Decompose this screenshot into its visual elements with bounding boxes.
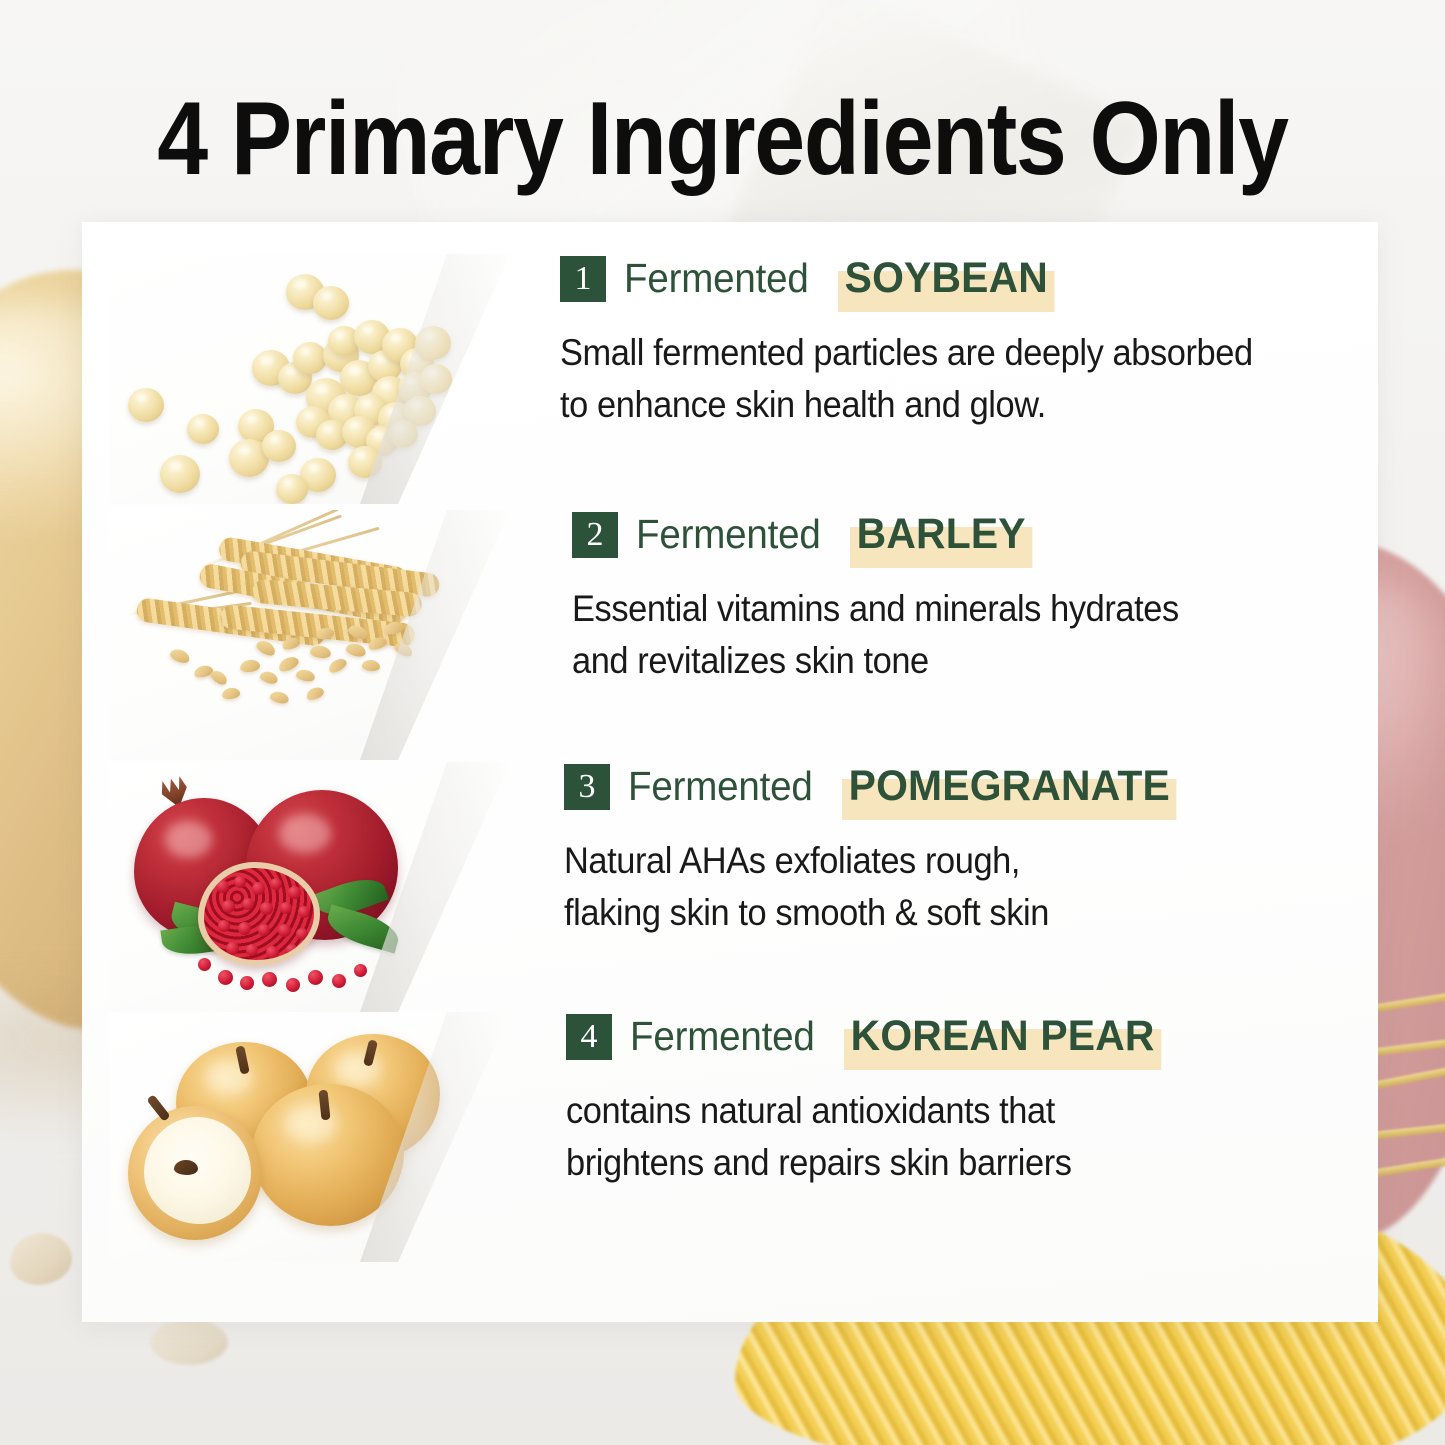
- ingredient-text-column: 1 Fermented SOYBEAN Small fermented part…: [560, 254, 1360, 504]
- ingredient-row: 1 Fermented SOYBEAN Small fermented part…: [82, 254, 1378, 504]
- ingredient-prefix: Fermented: [628, 763, 813, 810]
- description-line-2: flaking skin to smooth & soft skin: [564, 887, 1308, 939]
- ingredient-text-column: 2 Fermented BARLEY Essential vitamins an…: [572, 510, 1372, 760]
- barley-photo-canvas: [110, 510, 510, 760]
- ingredient-text-column: 4 Fermented KOREAN PEAR contains natural…: [566, 1012, 1366, 1262]
- soybeans-photo-canvas: [110, 254, 510, 504]
- ingredient-row: 3 Fermented POMEGRANATE Natural AHAs exf…: [82, 762, 1378, 1012]
- ingredient-prefix: Fermented: [636, 511, 821, 558]
- ingredient-name-text: KOREAN PEAR: [851, 1012, 1155, 1060]
- ingredient-heading: 4 Fermented KOREAN PEAR: [566, 1012, 1366, 1061]
- barley-stalks-photo: [110, 510, 510, 760]
- ingredient-name-text: BARLEY: [857, 510, 1026, 558]
- description-line-1: Small fermented particles are deeply abs…: [560, 327, 1304, 379]
- ingredient-number-badge: 1: [560, 256, 606, 302]
- ingredient-prefix: Fermented: [630, 1013, 815, 1060]
- background-pebble: [10, 1233, 72, 1285]
- ingredient-heading: 1 Fermented SOYBEAN: [560, 254, 1360, 303]
- korean-pear-photo-canvas: [110, 1012, 510, 1262]
- ingredient-description: Small fermented particles are deeply abs…: [560, 327, 1304, 431]
- description-line-2: brightens and repairs skin barriers: [566, 1137, 1310, 1189]
- ingredient-heading: 3 Fermented POMEGRANATE: [564, 762, 1364, 811]
- ingredient-name: SOYBEAN: [838, 254, 1055, 303]
- ingredient-name-text: POMEGRANATE: [849, 762, 1170, 810]
- ingredient-description: Natural AHAs exfoliates rough, flaking s…: [564, 835, 1308, 939]
- ingredient-row: 4 Fermented KOREAN PEAR contains natural…: [82, 1012, 1378, 1262]
- description-line-1: contains natural antioxidants that: [566, 1085, 1310, 1137]
- description-line-1: Essential vitamins and minerals hydrates: [572, 583, 1316, 635]
- background-pebble: [150, 1319, 228, 1365]
- ingredient-name: BARLEY: [850, 510, 1032, 559]
- description-line-2: to enhance skin health and glow.: [560, 379, 1304, 431]
- ingredient-name: POMEGRANATE: [842, 762, 1177, 811]
- ingredient-row: 2 Fermented BARLEY Essential vitamins an…: [82, 510, 1378, 760]
- page-title: 4 Primary Ingredients Only: [87, 84, 1359, 194]
- ingredient-description: contains natural antioxidants that brigh…: [566, 1085, 1310, 1189]
- ingredient-description: Essential vitamins and minerals hydrates…: [572, 583, 1316, 687]
- ingredient-number-badge: 2: [572, 512, 618, 558]
- description-line-1: Natural AHAs exfoliates rough,: [564, 835, 1308, 887]
- ingredient-text-column: 3 Fermented POMEGRANATE Natural AHAs exf…: [564, 762, 1364, 1012]
- ingredient-number-badge: 3: [564, 764, 610, 810]
- ingredient-name-text: SOYBEAN: [845, 254, 1048, 302]
- pomegranate-photo-canvas: [110, 762, 510, 1012]
- soybeans-photo: [110, 254, 510, 504]
- ingredients-card: 1 Fermented SOYBEAN Small fermented part…: [82, 222, 1378, 1322]
- ingredient-name: KOREAN PEAR: [844, 1012, 1161, 1061]
- ingredient-number-badge: 4: [566, 1014, 612, 1060]
- pomegranate-photo: [110, 762, 510, 1012]
- ingredient-heading: 2 Fermented BARLEY: [572, 510, 1372, 559]
- ingredient-prefix: Fermented: [624, 255, 809, 302]
- description-line-2: and revitalizes skin tone: [572, 635, 1316, 687]
- korean-pear-photo: [110, 1012, 510, 1262]
